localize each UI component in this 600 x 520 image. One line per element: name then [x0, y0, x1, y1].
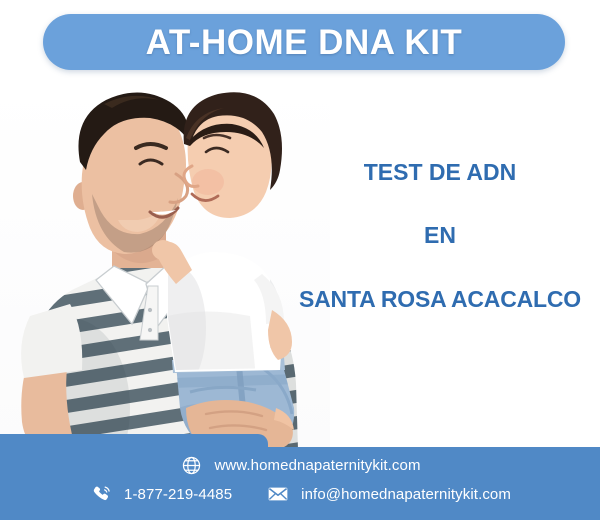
website-text: www.homednapaternitykit.com — [214, 458, 420, 473]
headline-block: TEST DE ADN EN SANTA ROSA ACACALCO — [288, 160, 592, 312]
father-and-child-photo — [0, 78, 330, 450]
footer-bar: www.homednapaternitykit.com 1-877-219-44… — [0, 434, 600, 520]
globe-icon — [179, 453, 203, 477]
footer-row-phone-email: 1-877-219-4485 info@homednapaternitykit.… — [0, 482, 600, 506]
footer-contact-info: www.homednapaternitykit.com 1-877-219-44… — [0, 447, 600, 520]
footer-row-website: www.homednapaternitykit.com — [0, 453, 600, 477]
phone-text: 1-877-219-4485 — [124, 487, 232, 502]
headline-line-1: TEST DE ADN — [288, 160, 592, 185]
header-banner: AT-HOME DNA KIT — [43, 14, 565, 70]
poster-canvas: AT-HOME DNA KIT — [0, 0, 600, 520]
email-item[interactable]: info@homednapaternitykit.com — [266, 482, 511, 506]
envelope-icon — [266, 482, 290, 506]
headline-line-2: EN — [288, 223, 592, 248]
website-item[interactable]: www.homednapaternitykit.com — [179, 453, 420, 477]
page-title: AT-HOME DNA KIT — [146, 25, 463, 60]
email-text: info@homednapaternitykit.com — [301, 487, 511, 502]
headline-line-3: SANTA ROSA ACACALCO — [288, 287, 592, 312]
phone-item[interactable]: 1-877-219-4485 — [89, 482, 232, 506]
phone-ringing-icon — [89, 482, 113, 506]
